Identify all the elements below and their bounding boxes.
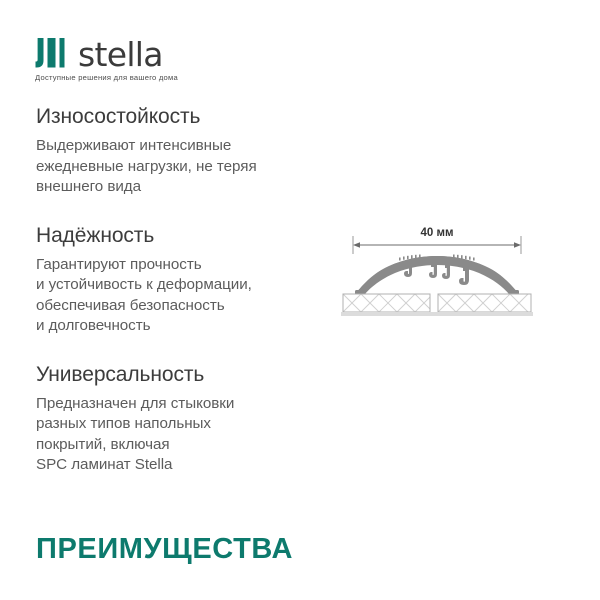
dimension-label: 40 мм (420, 227, 453, 239)
feature-title: Износостойкость (36, 104, 326, 130)
brand-logo: stella Доступные решения для вашего дома (35, 34, 295, 83)
logo-row: stella (35, 34, 295, 68)
logo-wordmark: stella (78, 40, 163, 70)
feature-title: Универсальность (36, 362, 326, 388)
features-list: Износостойкость Выдерживают интенсивные … (36, 104, 326, 476)
flooring-panel-right-icon (438, 294, 531, 312)
banner-title: ПРЕИМУЩЕСТВА (36, 532, 436, 566)
dimension-arrow-left-icon (353, 242, 360, 248)
bottom-banner: ПРЕИМУЩЕСТВА (36, 532, 436, 566)
feature-body: Выдерживают интенсивные ежедневные нагру… (36, 136, 326, 198)
product-cross-section-diagram: 40 мм (333, 224, 541, 320)
flooring-panel-left-icon (343, 294, 430, 312)
stella-bars-logo-icon (35, 38, 69, 68)
feature-item: Универсальность Предназначен для стыковк… (36, 362, 326, 476)
floor-transition-profile-icon (355, 255, 519, 296)
logo-tagline: Доступные решения для вашего дома (35, 73, 295, 83)
feature-item: Износостойкость Выдерживают интенсивные … (36, 104, 326, 198)
feature-body: Гарантируют прочность и устойчивость к д… (36, 255, 326, 337)
subfloor-baseline (341, 312, 533, 316)
feature-item: Надёжность Гарантируют прочность и устой… (36, 223, 326, 337)
feature-body: Предназначен для стыковки разных типов н… (36, 394, 326, 476)
feature-title: Надёжность (36, 223, 326, 249)
diagram-svg: 40 мм (333, 224, 541, 320)
dimension-arrow-right-icon (514, 242, 521, 248)
promo-page: stella Доступные решения для вашего дома… (0, 0, 600, 600)
